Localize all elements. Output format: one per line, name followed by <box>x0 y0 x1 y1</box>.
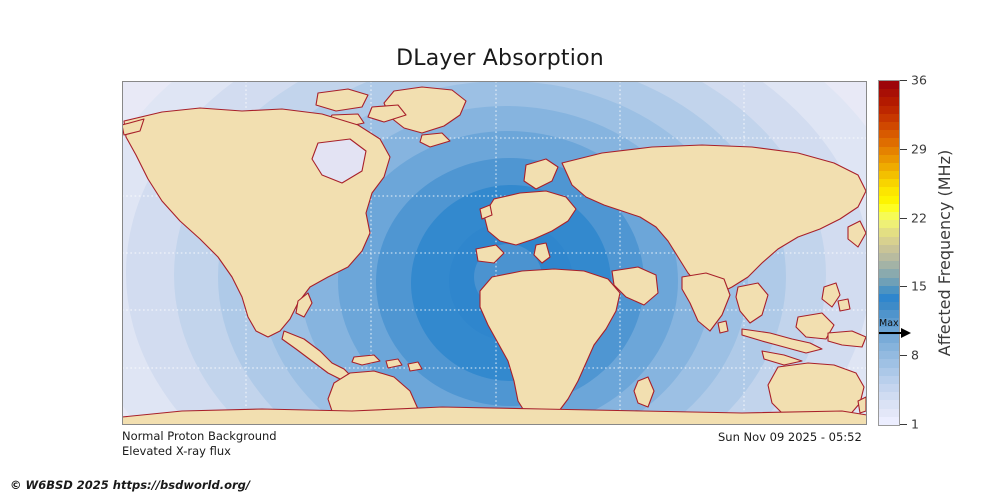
colorbar-segment <box>879 278 899 286</box>
colorbar-segment <box>879 302 899 310</box>
colorbar-segment <box>879 359 899 367</box>
colorbar-tick-label: 15 <box>911 279 927 294</box>
copyright-footer: © W6BSD 2025 https://bsdworld.org/ <box>10 478 250 492</box>
colorbar-tick <box>900 218 907 219</box>
world-map <box>122 81 867 425</box>
colorbar-segment <box>879 114 899 122</box>
colorbar-segment <box>879 368 899 376</box>
colorbar-segment <box>879 212 899 220</box>
colorbar-tick <box>900 149 907 150</box>
colorbar <box>878 80 900 426</box>
proton-background-label: Normal Proton Background <box>122 429 277 444</box>
colorbar-segment <box>879 163 899 171</box>
colorbar-segment <box>879 400 899 408</box>
colorbar-tick <box>900 355 907 356</box>
colorbar-segment <box>879 351 899 359</box>
status-annotations: Normal Proton Background Elevated X-ray … <box>122 429 277 459</box>
colorbar-segment <box>879 253 899 261</box>
xray-flux-label: Elevated X-ray flux <box>122 444 277 459</box>
colorbar-segment <box>879 417 899 425</box>
colorbar-segment <box>879 122 899 130</box>
colorbar-axis-title-box: Affected Frequency (MHz) <box>935 80 957 426</box>
colorbar-segment <box>879 187 899 195</box>
colorbar-tick-label: 8 <box>911 348 919 363</box>
colorbar-segment <box>879 147 899 155</box>
colorbar-segment <box>879 89 899 97</box>
max-marker: Max <box>878 319 912 343</box>
max-marker-label: Max <box>879 318 899 329</box>
colorbar-tick-label: 36 <box>911 73 927 88</box>
colorbar-segment <box>879 245 899 253</box>
colorbar-tick <box>900 80 907 81</box>
colorbar-segment <box>879 261 899 269</box>
colorbar-segment <box>879 228 899 236</box>
colorbar-segment <box>879 106 899 114</box>
colorbar-segment <box>879 343 899 351</box>
colorbar-segment <box>879 204 899 212</box>
colorbar-tick <box>900 424 907 425</box>
colorbar-tick <box>900 286 907 287</box>
colorbar-segment <box>879 179 899 187</box>
colorbar-segment <box>879 392 899 400</box>
colorbar-segment <box>879 155 899 163</box>
timestamp-label: Sun Nov 09 2025 - 05:52 <box>718 430 862 444</box>
colorbar-segment <box>879 81 899 89</box>
colorbar-segment <box>879 220 899 228</box>
colorbar-segment <box>879 138 899 146</box>
colorbar-tick-label: 22 <box>911 210 927 225</box>
colorbar-segment <box>879 384 899 392</box>
colorbar-tick-label: 1 <box>911 417 919 432</box>
colorbar-segment <box>879 269 899 277</box>
map-canvas <box>122 81 867 425</box>
colorbar-segment <box>879 294 899 302</box>
colorbar-tick-label: 29 <box>911 141 927 156</box>
colorbar-segment <box>879 376 899 384</box>
colorbar-segment <box>879 286 899 294</box>
colorbar-segment <box>879 196 899 204</box>
page-title: DLayer Absorption <box>0 46 1000 71</box>
colorbar-segment <box>879 409 899 417</box>
colorbar-segment <box>879 130 899 138</box>
colorbar-axis-title: Affected Frequency (MHz) <box>935 80 954 426</box>
colorbar-segment <box>879 97 899 105</box>
colorbar-segment <box>879 171 899 179</box>
colorbar-segment <box>879 237 899 245</box>
